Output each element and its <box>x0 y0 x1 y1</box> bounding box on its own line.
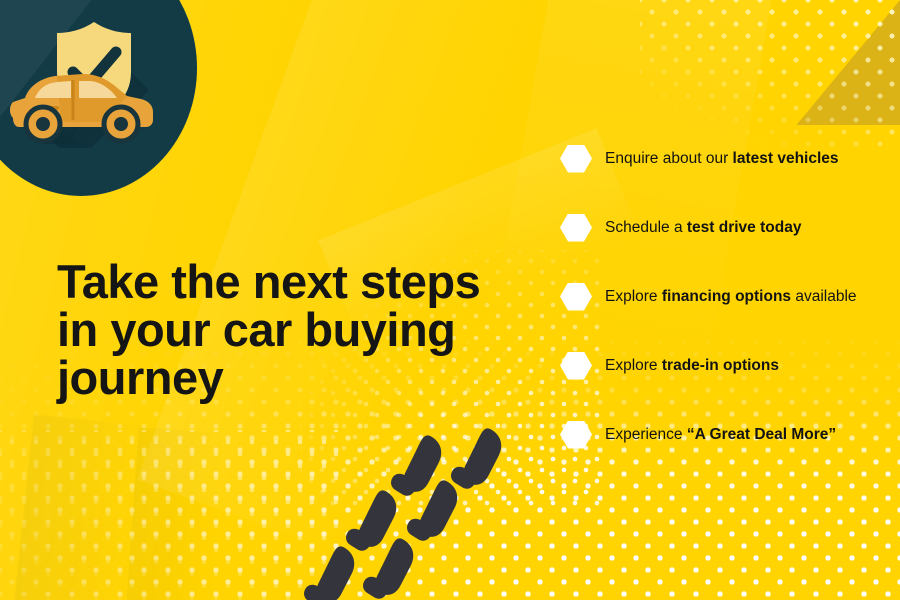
background-band <box>121 427 228 600</box>
checklist-item-1[interactable]: Enquire about our latest vehicles <box>560 124 900 193</box>
checklist-item-5-lead: Experience <box>605 426 687 443</box>
checklist-item-4[interactable]: Explore trade-in options <box>560 331 900 400</box>
checklist: Enquire about our latest vehicles Schedu… <box>560 124 900 469</box>
checklist-item-3-label: Explore financing options available <box>605 288 857 306</box>
checklist-item-4-label: Explore trade-in options <box>605 357 779 375</box>
checklist-item-2-lead: Schedule a <box>605 219 687 236</box>
hexagon-bullet-icon <box>560 352 592 380</box>
checklist-item-2-strong: test drive today <box>687 219 802 236</box>
hexagon-bullet-icon <box>560 421 592 449</box>
background-band <box>7 414 154 600</box>
headline-line-2: in your car buying <box>57 306 527 354</box>
gold-corner-wedge <box>760 0 900 125</box>
checklist-item-1-strong: latest vehicles <box>733 150 839 167</box>
footprint <box>388 431 450 503</box>
halftone-dots-left <box>0 430 340 600</box>
footprint <box>301 542 363 600</box>
hexagon-bullet-icon <box>560 283 592 311</box>
logo-badge <box>0 0 197 196</box>
headline: Take the next steps in your car buying j… <box>57 258 527 402</box>
footprint <box>343 486 405 558</box>
car-shield-icon <box>0 14 169 164</box>
headline-line-1: Take the next steps <box>57 258 527 306</box>
hexagon-bullet-icon <box>560 214 592 242</box>
checklist-item-5-strong: “A Great Deal More” <box>687 426 836 443</box>
footprint <box>404 476 466 548</box>
footprint <box>448 424 510 496</box>
checklist-item-1-label: Enquire about our latest vehicles <box>605 150 839 168</box>
logo-circle <box>0 0 197 196</box>
checklist-item-3[interactable]: Explore financing options available <box>560 262 900 331</box>
hexagon-bullet-icon <box>560 145 592 173</box>
checklist-item-3-trail: available <box>791 288 857 305</box>
checklist-item-4-lead: Explore <box>605 357 662 374</box>
checklist-item-5[interactable]: Experience “A Great Deal More” <box>560 400 900 469</box>
checklist-item-5-label: Experience “A Great Deal More” <box>605 426 836 444</box>
checklist-item-2-label: Schedule a test drive today <box>605 219 801 237</box>
banner-canvas: Take the next steps in your car buying j… <box>0 0 900 600</box>
checklist-item-3-lead: Explore <box>605 288 662 305</box>
headline-line-3: journey <box>57 354 527 402</box>
checklist-item-1-lead: Enquire about our <box>605 150 733 167</box>
checklist-item-2[interactable]: Schedule a test drive today <box>560 193 900 262</box>
checklist-item-3-strong: financing options <box>662 288 791 305</box>
footprint <box>360 534 422 600</box>
checklist-item-4-strong: trade-in options <box>662 357 779 374</box>
